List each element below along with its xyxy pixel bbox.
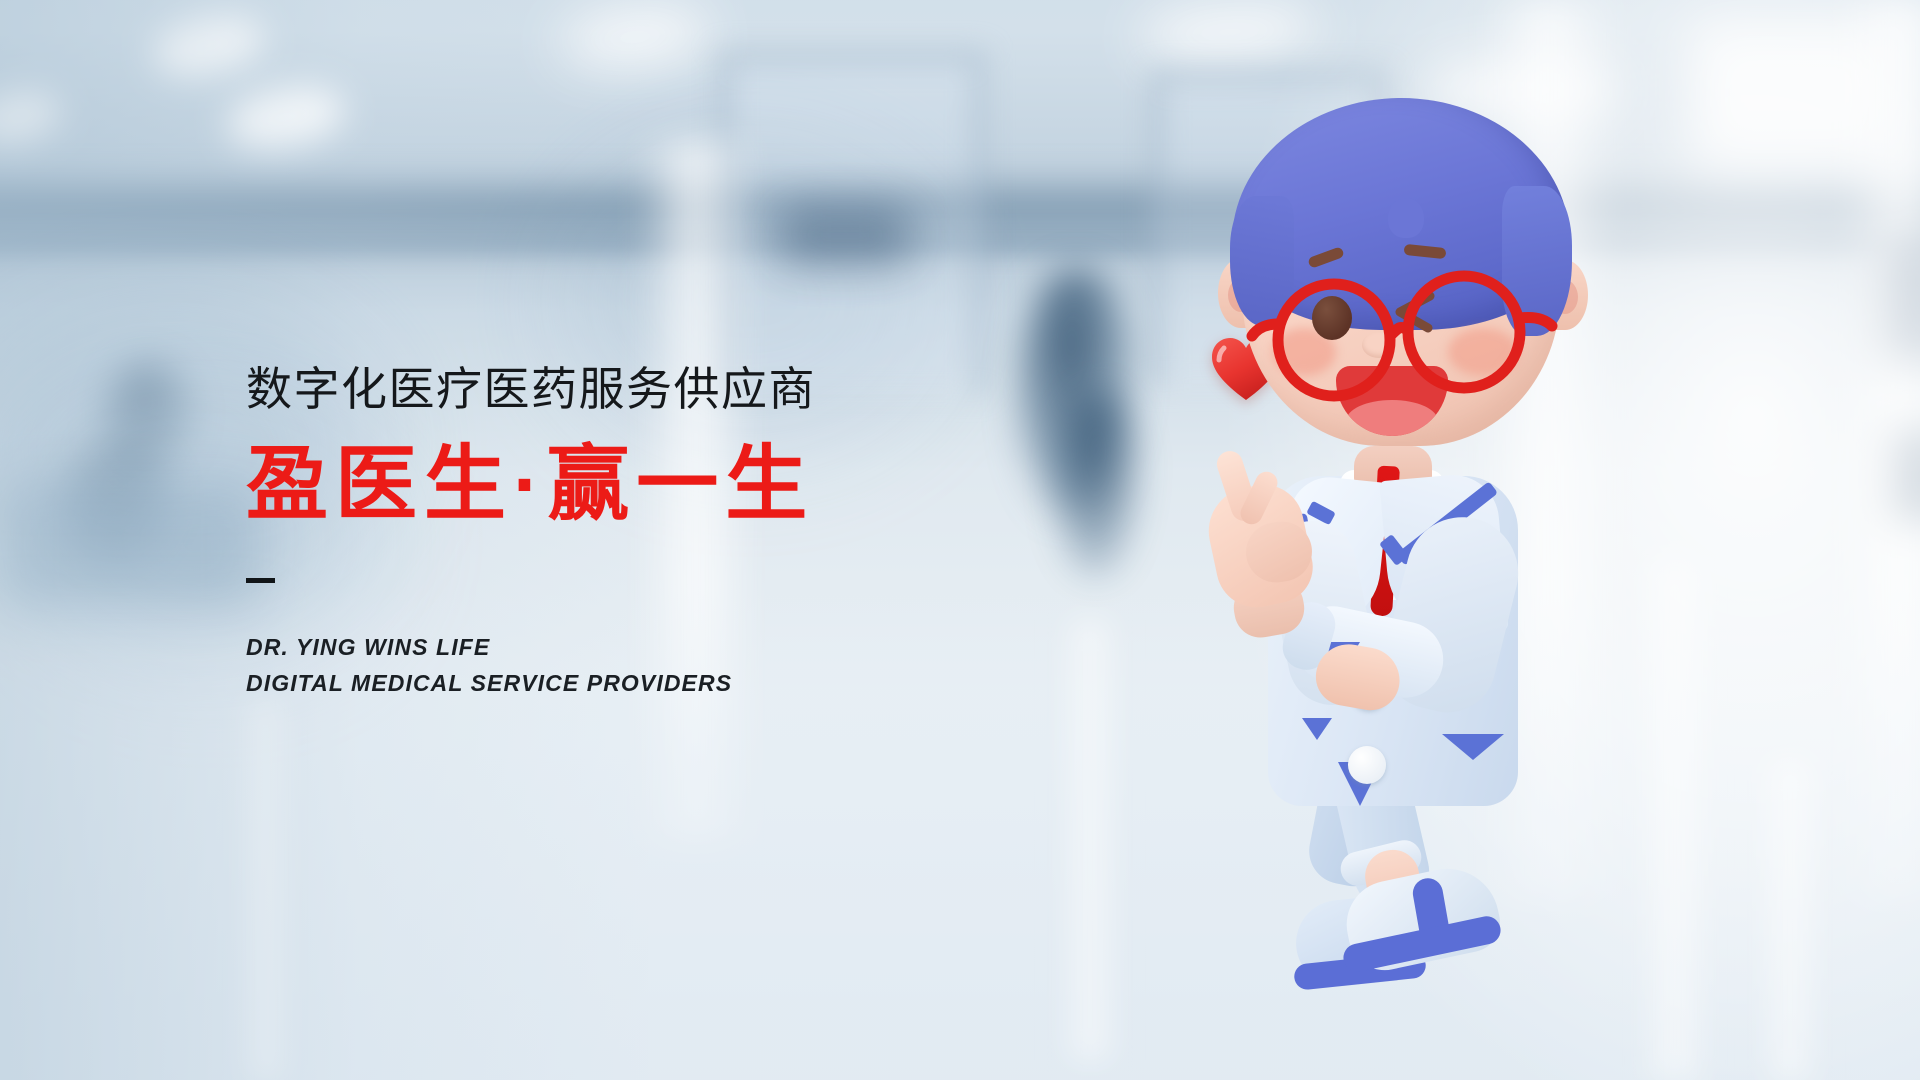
mascot-hair-peak bbox=[1388, 198, 1424, 238]
blurred-person-silhouette bbox=[1056, 390, 1142, 580]
background-dark-panel bbox=[780, 205, 910, 265]
floor-streak bbox=[1060, 620, 1120, 1060]
banner-english-block: DR. YING WINS LIFE DIGITAL MEDICAL SERVI… bbox=[246, 629, 1006, 701]
banner-english-line-2: DIGITAL MEDICAL SERVICE PROVIDERS bbox=[246, 665, 1006, 701]
mascot-coat-button bbox=[1348, 746, 1386, 784]
divider-rule bbox=[246, 578, 275, 583]
banner-headline: 盈医生·赢一生 bbox=[246, 444, 1006, 526]
banner-english-line-1: DR. YING WINS LIFE bbox=[246, 629, 1006, 665]
hero-banner: 数字化医疗医药服务供应商 盈医生·赢一生 DR. YING WINS LIFE … bbox=[0, 0, 1920, 1080]
glasses-icon bbox=[1228, 262, 1576, 402]
doctor-mascot bbox=[1190, 46, 1670, 1046]
mascot-tongue bbox=[1346, 400, 1438, 436]
banner-copy: 数字化医疗医药服务供应商 盈医生·赢一生 DR. YING WINS LIFE … bbox=[246, 366, 1006, 701]
banner-eyebrow: 数字化医疗医药服务供应商 bbox=[246, 366, 1006, 412]
